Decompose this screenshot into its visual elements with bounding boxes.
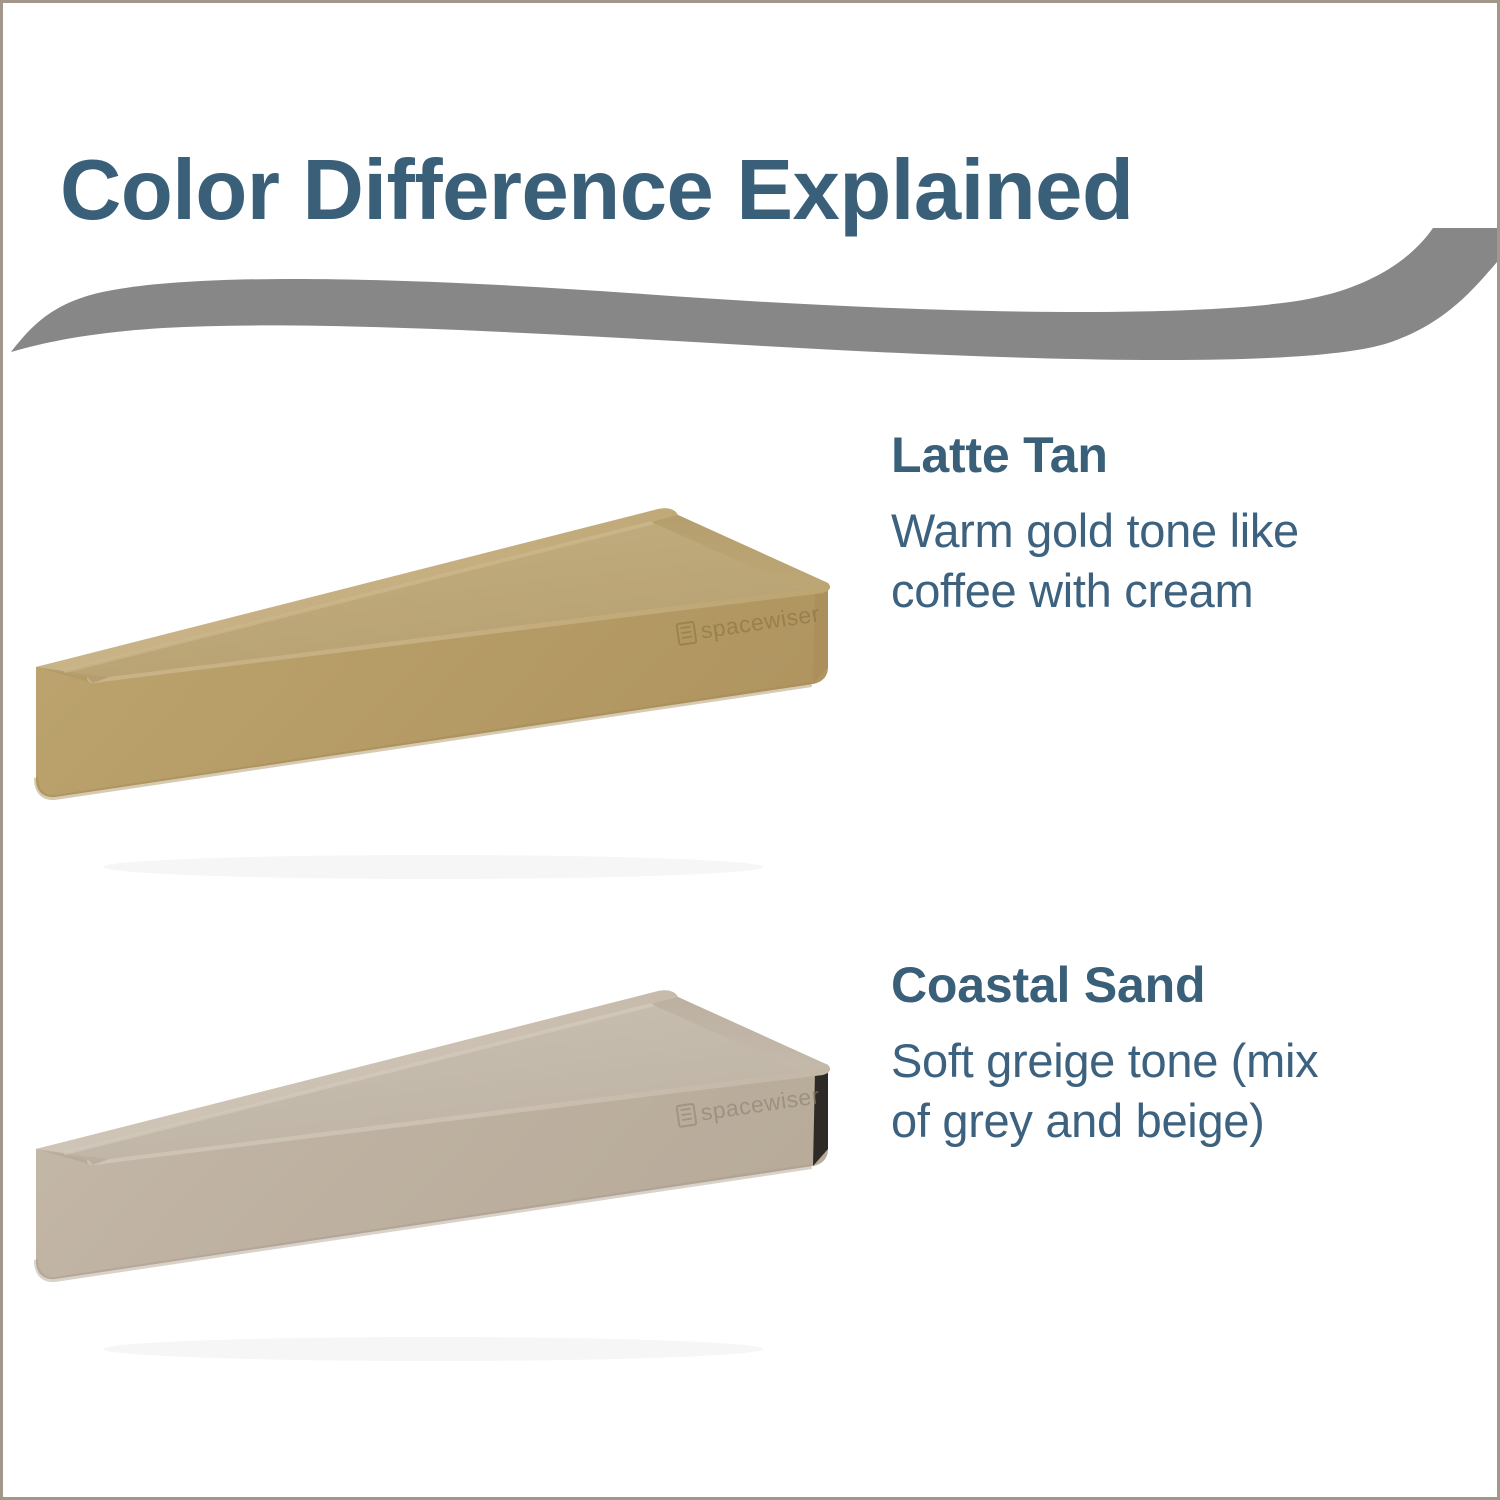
tray-shadow [103, 855, 763, 879]
product-description-latte-tan: Warm gold tone like coffee with cream [891, 501, 1361, 621]
product-heading-coastal-sand: Coastal Sand [891, 958, 1361, 1013]
product-description-coastal-sand: Soft greige tone (mix of grey and beige) [891, 1031, 1361, 1151]
tray-shadow [103, 1337, 763, 1361]
info-block-coastal-sand: Coastal Sand Soft greige tone (mix of gr… [891, 958, 1361, 1151]
page-title: Color Difference Explained [60, 146, 1360, 235]
tray-outer-right-face [813, 583, 828, 684]
swoosh-divider [3, 228, 1497, 378]
product-heading-latte-tan: Latte Tan [891, 428, 1361, 483]
product-image-coastal-sand: spacewiser [3, 953, 873, 1383]
tray-outer-right-face [813, 1065, 828, 1166]
info-block-latte-tan: Latte Tan Warm gold tone like coffee wit… [891, 428, 1361, 621]
product-image-latte-tan: spacewiser [3, 471, 873, 901]
infographic-page: Color Difference Explained [0, 0, 1500, 1500]
